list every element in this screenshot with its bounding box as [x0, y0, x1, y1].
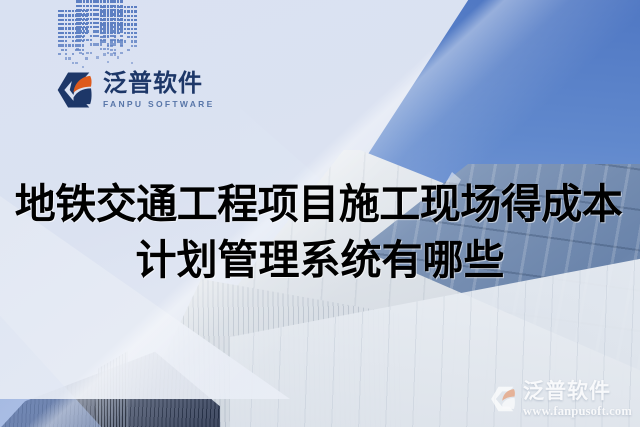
mosaic-cell: [120, 6, 123, 8]
mosaic-cell: [58, 44, 61, 46]
mosaic-cell: [103, 28, 106, 30]
mosaic-cell: [68, 44, 71, 46]
mosaic-cell: [131, 15, 134, 17]
mosaic-cell: [107, 15, 110, 17]
mosaic-cell: [61, 40, 64, 42]
mosaic-cell: [58, 36, 61, 38]
mosaic-cell: [134, 36, 137, 38]
mosaic-cell: [114, 49, 117, 51]
mosaic-cell: [75, 62, 78, 64]
mosaic-cell: [134, 32, 137, 34]
mosaic-cell: [76, 13, 79, 15]
brand-name-en: FANPU SOFTWARE: [103, 100, 215, 109]
mosaic-cell: [79, 39, 82, 41]
mosaic-cell: [68, 23, 71, 25]
mosaic-cell: [90, 0, 93, 2]
mosaic-cell: [114, 19, 117, 21]
mosaic-cell: [124, 19, 127, 21]
mosaic-cell: [117, 6, 120, 8]
mosaic-cell: [82, 44, 85, 46]
mosaic-cell: [72, 36, 75, 38]
mosaic-cell: [100, 23, 103, 25]
mosaic-cell: [107, 36, 110, 38]
mosaic-cell: [76, 39, 79, 41]
mosaic-cell: [76, 22, 79, 24]
mosaic-cell: [131, 10, 134, 12]
mosaic-cell: [117, 40, 120, 42]
mosaic-cell: [58, 14, 61, 16]
mosaic-cell: [72, 40, 75, 42]
mosaic-cell: [120, 19, 123, 21]
mosaic-cell: [93, 35, 96, 37]
mosaic-cell: [86, 39, 89, 41]
mosaic-cell: [100, 43, 103, 45]
mosaic-cell: [72, 14, 75, 16]
mosaic-cell: [114, 32, 117, 34]
mosaic-cell: [65, 53, 68, 55]
mosaic-cell: [86, 0, 89, 2]
mosaic-cell: [65, 14, 68, 16]
mosaic-cell: [127, 10, 130, 12]
mosaic-cell: [65, 32, 68, 34]
mosaic-cell: [114, 23, 117, 25]
mosaic-cell: [83, 35, 86, 37]
mosaic-cell: [86, 9, 89, 11]
mosaic-cell: [72, 44, 75, 46]
mosaic-cell: [110, 15, 113, 17]
mosaic-cell: [78, 44, 81, 46]
mosaic-cell: [117, 56, 120, 58]
mosaic-cell: [79, 26, 82, 28]
mosaic-cell: [86, 26, 89, 28]
mosaic-cell: [83, 26, 86, 28]
mosaic-cell: [83, 13, 86, 15]
mosaic-cell: [93, 22, 96, 24]
mosaic-cell: [72, 62, 75, 64]
mosaic-cell: [79, 52, 82, 54]
mosaic-cell: [117, 23, 120, 25]
mosaic-cell: [83, 30, 86, 32]
mosaic-cell: [124, 32, 127, 34]
mosaic-cell: [83, 5, 86, 7]
mosaic-cell: [72, 32, 75, 34]
mosaic-cell: [107, 0, 110, 2]
mosaic-cell: [107, 6, 110, 8]
brand-watermark: 泛普软件 www.fanpusoft.com: [490, 381, 632, 418]
mosaic-cell: [131, 6, 134, 8]
mosaic-cell: [124, 10, 127, 12]
mosaic-cell: [76, 9, 79, 11]
mosaic-cell: [96, 35, 99, 37]
mosaic-cell: [61, 49, 64, 51]
mosaic-cell: [103, 0, 106, 2]
mosaic-cell: [96, 5, 99, 7]
mosaic-cell: [96, 9, 99, 11]
mosaic-cell: [110, 45, 113, 47]
mosaic-cell: [103, 19, 106, 21]
mosaic-cell: [90, 5, 93, 7]
mosaic-cell: [96, 13, 99, 15]
mosaic-cell: [134, 15, 137, 17]
mosaic-cell: [61, 44, 64, 46]
mosaic-cell: [96, 56, 99, 58]
mosaic-cell: [79, 18, 82, 20]
mosaic-cell: [65, 19, 68, 21]
mosaic-cell: [120, 30, 123, 32]
fanpu-hexagon-logo-icon: [56, 70, 96, 110]
mosaic-cell: [72, 10, 75, 12]
brand-logo-text: 泛普软件 FANPU SOFTWARE: [103, 72, 215, 109]
mosaic-cell: [86, 18, 89, 20]
mosaic-cell: [65, 44, 68, 46]
mosaic-cell: [68, 10, 71, 12]
brand-watermark-text: 泛普软件 www.fanpusoft.com: [523, 381, 632, 418]
mosaic-cell: [79, 5, 82, 7]
mosaic-cell: [103, 48, 106, 50]
mosaic-cell: [117, 28, 120, 30]
mosaic-cell: [100, 15, 103, 17]
mosaic-cell: [131, 19, 134, 21]
mosaic-cell: [58, 19, 61, 21]
mosaic-cell: [72, 19, 75, 21]
mosaic-cell: [100, 6, 103, 8]
mosaic-cell: [83, 18, 86, 20]
mosaic-cell: [114, 28, 117, 30]
mosaic-cell: [100, 32, 103, 34]
mosaic-cell: [68, 36, 71, 38]
mosaic-cell: [103, 15, 106, 17]
mosaic-cell: [131, 23, 134, 25]
mosaic-cell: [134, 10, 137, 12]
mosaic-cell: [96, 26, 99, 28]
mosaic-cell: [65, 57, 68, 59]
mosaic-cell: [79, 0, 82, 2]
mosaic-cell: [61, 10, 64, 12]
mosaic-cell: [79, 13, 82, 15]
mosaic-cell: [131, 45, 134, 47]
mosaic-cell: [100, 10, 103, 12]
mosaic-cell: [61, 27, 64, 29]
mosaic-cell: [114, 6, 117, 8]
mosaic-cell: [120, 40, 123, 42]
mosaic-cell: [96, 22, 99, 24]
mosaic-cell: [76, 18, 79, 20]
watermark-name-cn: 泛普软件: [523, 381, 632, 402]
mosaic-cell: [90, 39, 93, 41]
mosaic-cell: [86, 13, 89, 15]
mosaic-cell: [110, 28, 113, 30]
mosaic-cell: [114, 40, 117, 42]
mosaic-cell: [93, 9, 96, 11]
mosaic-cell: [83, 39, 86, 41]
mosaic-cell: [107, 61, 110, 63]
mosaic-cell: [110, 35, 113, 37]
brand-logo: 泛普软件 FANPU SOFTWARE: [56, 70, 215, 110]
mosaic-cell: [90, 18, 93, 20]
mosaic-cell: [82, 49, 85, 51]
mosaic-cell: [61, 19, 64, 21]
mosaic-cell: [120, 15, 123, 17]
mosaic-cell: [86, 30, 89, 32]
mosaic-cell: [107, 23, 110, 25]
watermark-url: www.fanpusoft.com: [523, 405, 632, 418]
mosaic-cell: [114, 53, 117, 55]
mosaic-cell: [61, 23, 64, 25]
mosaic-cell: [103, 23, 106, 25]
mosaic-cell: [79, 35, 82, 37]
mosaic-cell: [76, 5, 79, 7]
mosaic-cell: [120, 52, 123, 54]
mosaic-cell: [134, 19, 137, 21]
mosaic-cell: [76, 48, 79, 50]
mosaic-cell: [58, 40, 61, 42]
mosaic-cell: [103, 10, 106, 12]
mosaic-cell: [93, 18, 96, 20]
mosaic-cell: [120, 23, 123, 25]
mosaic-cell: [114, 15, 117, 17]
mosaic-cell: [100, 0, 103, 2]
mosaic-cell: [120, 35, 123, 37]
mosaic-cell: [103, 36, 106, 38]
mosaic-cell: [76, 30, 79, 32]
mosaic-cell: [134, 28, 137, 30]
mosaic-cell: [96, 0, 99, 2]
mosaic-cell: [93, 30, 96, 32]
mosaic-cell: [68, 19, 71, 21]
mosaic-cell: [134, 45, 137, 47]
mosaic-cell: [86, 5, 89, 7]
mosaic-cell: [100, 19, 103, 21]
mosaic-cell: [82, 66, 85, 68]
mosaic-cell: [58, 10, 61, 12]
mosaic-cell: [65, 40, 68, 42]
mosaic-cell: [83, 0, 86, 2]
mosaic-cell: [76, 26, 79, 28]
mosaic-cell: [110, 40, 113, 42]
mosaic-cell: [93, 5, 96, 7]
mosaic-cell: [120, 45, 123, 47]
promo-banner: 泛普软件 FANPU SOFTWARE 地铁交通工程项目施工现场得成本 计划管理…: [0, 0, 640, 427]
mosaic-cell: [117, 0, 120, 2]
mosaic-cell: [131, 32, 134, 34]
mosaic-cell: [72, 27, 75, 29]
mosaic-cell: [110, 53, 113, 55]
mosaic-cell: [107, 19, 110, 21]
mosaic-cell: [107, 45, 110, 47]
mosaic-cell: [117, 15, 120, 17]
mosaic-cell: [65, 10, 68, 12]
mosaic-cell: [83, 22, 86, 24]
mosaic-cell: [117, 10, 120, 12]
mosaic-cell: [124, 28, 127, 30]
mosaic-cell: [90, 52, 93, 54]
mosaic-cell: [113, 0, 116, 2]
mosaic-cell: [85, 57, 88, 59]
mosaic-cell: [107, 28, 110, 30]
mosaic-cell: [90, 13, 93, 15]
mosaic-cell: [131, 40, 134, 42]
mosaic-cell: [93, 43, 96, 45]
mosaic-cell: [103, 53, 106, 55]
mosaic-cell: [61, 14, 64, 16]
mosaic-cell: [58, 27, 61, 29]
mosaic-cell: [120, 28, 123, 30]
mosaic-cell: [127, 32, 130, 34]
mosaic-cell: [103, 6, 106, 8]
mosaic-cell: [103, 32, 106, 34]
mosaic-cell: [96, 30, 99, 32]
mosaic-cell: [90, 43, 93, 45]
mosaic-cell: [134, 6, 137, 8]
mosaic-cell: [65, 27, 68, 29]
mosaic-cell: [107, 52, 110, 54]
mosaic-cell: [90, 22, 93, 24]
mosaic-cell: [110, 6, 113, 8]
mosaic-cell: [79, 30, 82, 32]
mosaic-cell: [114, 36, 117, 38]
mosaic-cell: [131, 28, 134, 30]
mosaic-cell: [65, 23, 68, 25]
mosaic-cell: [61, 32, 64, 34]
mosaic-cell: [127, 49, 130, 51]
mosaic-cell: [72, 53, 75, 55]
mosaic-cell: [124, 15, 127, 17]
mosaic-cell: [124, 6, 127, 8]
mosaic-cell: [79, 9, 82, 11]
mosaic-cell: [114, 10, 117, 12]
mosaic-cell: [72, 23, 75, 25]
mosaic-cell: [68, 27, 71, 29]
mosaic-cell: [127, 23, 130, 25]
mosaic-cell: [117, 19, 120, 21]
mosaic-cell: [90, 26, 93, 28]
mosaic-cell: [58, 53, 61, 55]
mosaic-cell: [93, 13, 96, 15]
mosaic-cell: [100, 40, 103, 42]
mosaic-cell: [68, 32, 71, 34]
mosaic-cell: [61, 36, 64, 38]
mosaic-cell: [86, 22, 89, 24]
mosaic-cell: [65, 36, 68, 38]
mosaic-cell: [75, 44, 78, 46]
mosaic-cell: [110, 23, 113, 25]
fanpu-hexagon-watermark-icon: [490, 385, 518, 413]
mosaic-cell: [127, 19, 130, 21]
mosaic-cell: [68, 14, 71, 16]
mosaic-cell: [96, 18, 99, 20]
mosaic-cell: [79, 22, 82, 24]
mosaic-cell: [86, 52, 89, 54]
mosaic-cell: [83, 9, 86, 11]
mosaic-cell: [131, 36, 134, 38]
mosaic-cell: [110, 0, 113, 2]
mosaic-cell: [76, 35, 79, 37]
mosaic-cell: [127, 15, 130, 17]
mosaic-cell: [124, 23, 127, 25]
mosaic-cell: [82, 53, 85, 55]
mosaic-cell: [76, 0, 79, 2]
mosaic-cell: [127, 6, 130, 8]
mosaic-cell: [93, 0, 96, 2]
mosaic-cell: [120, 0, 123, 2]
mosaic-cell: [100, 36, 103, 38]
mosaic-cell: [100, 48, 103, 50]
mosaic-cell: [65, 49, 68, 51]
mosaic-cell: [134, 40, 137, 42]
mosaic-cell: [93, 26, 96, 28]
mosaic-cell: [134, 23, 137, 25]
mosaic-cell: [107, 32, 110, 34]
mosaic-cell: [68, 57, 71, 59]
mosaic-cell: [90, 9, 93, 11]
mosaic-cell: [110, 49, 113, 51]
mosaic-cell: [107, 10, 110, 12]
mosaic-cell: [90, 35, 93, 37]
mosaic-cell: [96, 43, 99, 45]
mosaic-cell: [117, 32, 120, 34]
mosaic-cell: [103, 40, 106, 42]
mosaic-cell: [107, 48, 110, 50]
mosaic-cell: [58, 23, 61, 25]
brand-name-cn: 泛普软件: [103, 72, 215, 96]
mosaic-cell: [110, 19, 113, 21]
mosaic-cell: [131, 62, 134, 64]
mosaic-cell: [78, 49, 81, 51]
mosaic-cell: [110, 32, 113, 34]
mosaic-cell: [120, 10, 123, 12]
mosaic-cell: [113, 43, 116, 45]
mosaic-cell: [58, 32, 61, 34]
mosaic-cell: [127, 28, 130, 30]
pixel-city-mosaic: [58, 0, 180, 72]
mosaic-cell: [124, 40, 127, 42]
mosaic-cell: [110, 10, 113, 12]
mosaic-cell: [127, 36, 130, 38]
mosaic-cell: [100, 28, 103, 30]
